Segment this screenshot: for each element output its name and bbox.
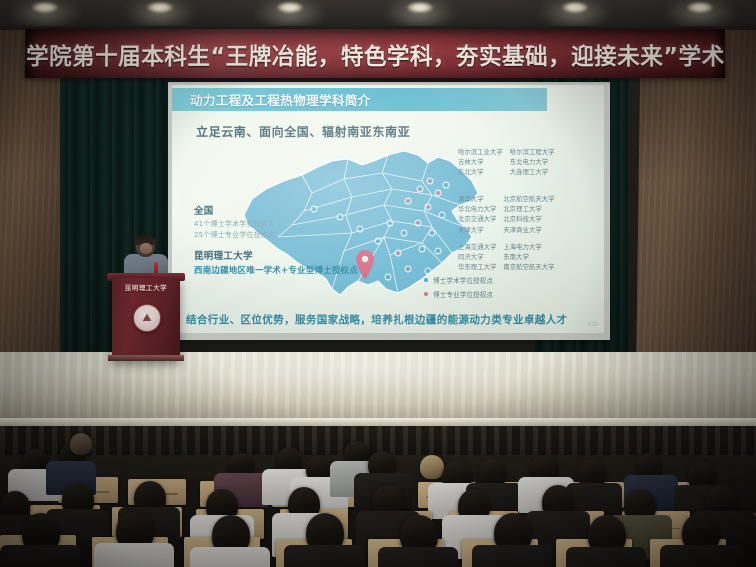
- uni-name: 北京交通大学: [458, 215, 496, 225]
- kmust-line: 西南边疆地区唯一学术+专业型博士授权点: [194, 264, 358, 276]
- uni-name: 东北电力大学: [510, 158, 555, 168]
- slide-title-bar: 动力工程及工程热物理学科简介: [172, 88, 547, 111]
- legend-item: 博士学术学位授权点: [424, 275, 493, 285]
- uni-name: 东北大学: [458, 168, 503, 178]
- legend-dot-icon: [424, 278, 428, 282]
- mountain-icon: ⛰: [142, 313, 151, 324]
- uni-col-b: 上海电力大学 东南大学 南京航空航天大学: [503, 243, 554, 274]
- wall-panel-right: [636, 30, 756, 405]
- lecture-hall-photo: 动力工程及工程热物理学科简介 立足云南、面向全国、辐射南亚东南亚: [0, 0, 756, 567]
- uni-name: 天津大学: [458, 226, 496, 236]
- national-stats: 全国 41个博士学术学位授权点 25个博士专业学位授权点: [194, 203, 275, 241]
- audience-torso: [190, 547, 270, 567]
- slide-title: 动力工程及工程热物理学科简介: [172, 90, 371, 109]
- legend-dot-icon: [424, 292, 428, 296]
- audience-head: [420, 455, 444, 479]
- national-stats-heading: 全国: [194, 203, 275, 217]
- uni-col-b: 北京航空航天大学 北京理工大学 北京科技大学 天津商业大学: [503, 195, 554, 236]
- national-stats-line-1: 41个博士学术学位授权点: [194, 219, 275, 230]
- audience-torso: [284, 545, 364, 567]
- kmust-heading: 昆明理工大学: [194, 248, 358, 262]
- legend-label: 博士专业学位授权点: [433, 289, 493, 299]
- legend-item: 博士专业学位授权点: [424, 289, 493, 299]
- uni-name: 大连理工大学: [510, 168, 555, 178]
- uni-name: 吉林大学: [458, 158, 503, 168]
- uni-name: 北京科技大学: [503, 215, 554, 225]
- uni-col-a: 清华大学 华北电力大学 北京交通大学 天津大学: [458, 195, 496, 236]
- university-emblem: ⛰: [133, 304, 161, 332]
- uni-group-northeast: 哈尔滨工业大学 吉林大学 东北大学 哈尔滨工程大学 东北电力大学 大连理工大学: [458, 148, 555, 179]
- uni-name: 南京航空航天大学: [503, 263, 554, 273]
- uni-name: 同济大学: [458, 253, 496, 263]
- audience-torso: [472, 545, 552, 567]
- uni-name: 北京理工大学: [503, 205, 554, 215]
- uni-name: 清华大学: [458, 195, 496, 205]
- kmust-block: 昆明理工大学 西南边疆地区唯一学术+专业型博士授权点: [194, 248, 358, 276]
- uni-name: 上海电力大学: [503, 243, 554, 253]
- slide-footer-text: 结合行业、区位优势，服务国家战略，培养扎根边疆的能源动力类专业卓越人才: [186, 312, 568, 327]
- audience-torso: [660, 545, 744, 567]
- uni-name: 华东理工大学: [458, 263, 496, 273]
- uni-name: 东南大学: [503, 253, 554, 263]
- audience-torso: [94, 543, 174, 567]
- audience-head: [70, 433, 92, 455]
- slide-page-mark: 019: [588, 322, 598, 328]
- map-legend: 博士学术学位授权点 博士专业学位授权点: [424, 275, 493, 303]
- uni-col-a: 上海交通大学 同济大学 华东理工大学: [458, 243, 496, 274]
- uni-name: 北京航空航天大学: [503, 195, 554, 205]
- stage-floor: [0, 352, 756, 424]
- presentation-slide: 动力工程及工程热物理学科简介 立足云南、面向全国、辐射南亚东南亚: [172, 85, 604, 333]
- event-banner-text: 冶能学院第十届本科生“王牌冶能，特色学科，夯实基础，迎接未来”学术活动: [25, 37, 726, 71]
- uni-group-beijing: 清华大学 华北电力大学 北京交通大学 天津大学 北京航空航天大学 北京理工大学 …: [458, 195, 555, 236]
- event-banner: 冶能学院第十届本科生“王牌冶能，特色学科，夯实基础，迎接未来”学术活动: [25, 29, 726, 78]
- podium-sign-text: 昆明理工大学: [112, 282, 180, 292]
- uni-name: 天津商业大学: [503, 226, 554, 236]
- podium-base: [108, 355, 184, 361]
- audience-torso: [378, 547, 458, 567]
- uni-group-shanghai: 上海交通大学 同济大学 华东理工大学 上海电力大学 东南大学 南京航空航天大学: [458, 243, 555, 274]
- audience-torso: [566, 547, 646, 567]
- wall-panel-left: [0, 30, 60, 390]
- audience-torso: [0, 545, 80, 567]
- uni-name: 哈尔滨工业大学: [458, 148, 503, 158]
- audience-area: [0, 455, 756, 567]
- uni-col-b: 哈尔滨工程大学 东北电力大学 大连理工大学: [510, 148, 555, 179]
- uni-col-a: 哈尔滨工业大学 吉林大学 东北大学: [458, 148, 503, 179]
- uni-name: 哈尔滨工程大学: [510, 148, 555, 158]
- uni-name: 上海交通大学: [458, 243, 496, 253]
- legend-label: 博士学术学位授权点: [433, 275, 493, 285]
- national-stats-line-2: 25个博士专业学位授权点: [194, 230, 275, 241]
- speaker-face: [140, 243, 152, 254]
- uni-name: 华北电力大学: [458, 205, 496, 215]
